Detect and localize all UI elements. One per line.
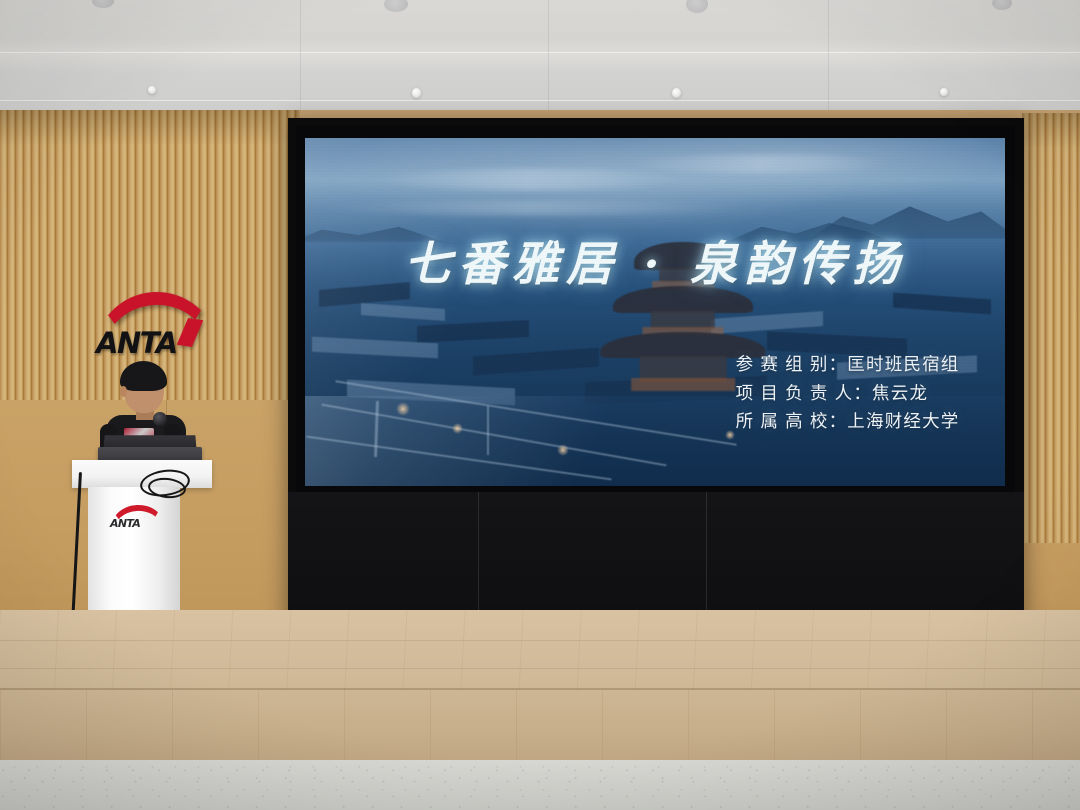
anta-wordmark: ANTA — [96, 326, 177, 360]
presentation-screen[interactable]: 七番雅居 · 泉韵传扬 参 赛 组 别：匡时班民宿组 项 目 负 责 人：焦云龙… — [305, 138, 1005, 486]
ceiling-light-icon — [672, 88, 681, 98]
slide-meta-block: 参 赛 组 别：匡时班民宿组 项 目 负 责 人：焦云龙 所 属 高 校：上海财… — [736, 350, 960, 435]
ceiling-vent-icon — [92, 0, 114, 8]
ceiling-vent-icon — [686, 0, 708, 13]
slide-meta-line: 参 赛 组 别：匡时班民宿组 — [736, 350, 960, 378]
stage-riser-face — [0, 690, 1080, 762]
stage-platform — [0, 610, 1080, 698]
terrazzo-floor — [0, 760, 1080, 810]
conference-stage-photo: ANTA — [0, 0, 1080, 810]
speaker-hair — [120, 361, 167, 391]
ceiling-vent-icon — [992, 0, 1012, 10]
slide-meta-line: 所 属 高 校：上海财经大学 — [736, 407, 960, 435]
ceiling — [0, 0, 1080, 122]
microphone-icon — [153, 412, 167, 426]
slide-background: 七番雅居 · 泉韵传扬 参 赛 组 别：匡时班民宿组 项 目 负 责 人：焦云龙… — [305, 138, 1005, 486]
slide-meta-line: 项 目 负 责 人：焦云龙 — [736, 379, 960, 407]
anta-podium-logo: ANTA — [106, 505, 158, 531]
speaker-ear — [120, 386, 127, 397]
ceiling-light-icon — [148, 86, 156, 94]
anta-wall-logo: ANTA — [88, 292, 200, 364]
wood-slat-wall-right — [1022, 113, 1080, 543]
ceiling-light-icon — [412, 88, 421, 98]
ceiling-light-icon — [940, 88, 948, 96]
anta-wordmark-small: ANTA — [110, 517, 140, 530]
ceiling-vent-icon — [384, 0, 408, 12]
slide-title: 七番雅居 · 泉韵传扬 — [305, 225, 1005, 294]
